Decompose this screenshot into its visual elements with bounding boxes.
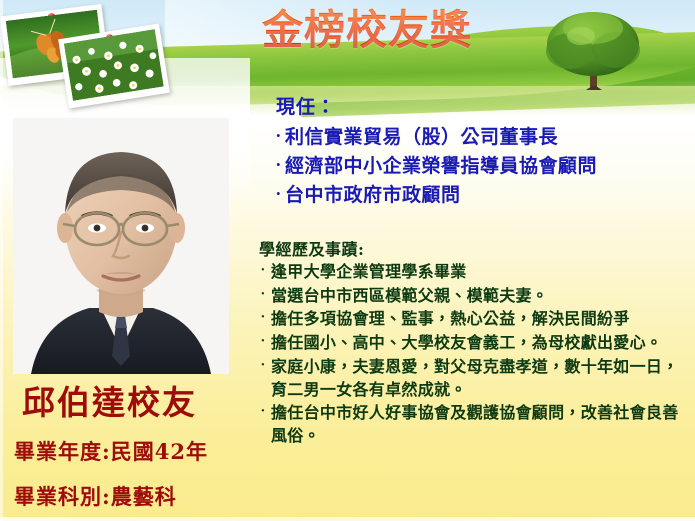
green-tree-illustration <box>536 6 656 94</box>
bullet-icon: · <box>255 308 271 328</box>
current-position-text: 台中市政府市政顧問 <box>285 181 461 210</box>
current-positions-block: 現任： · 利信實業貿易（股）公司董事長 · 經濟部中小企業榮譽指導員協會顧問 … <box>262 92 687 210</box>
current-position-item: · 經濟部中小企業榮譽指導員協會顧問 <box>272 152 687 181</box>
graduation-department-label: 畢業科別:農藝科 <box>14 481 177 511</box>
bullet-icon: · <box>255 402 271 422</box>
deed-item: · 家庭小康，夫妻恩愛，對父母克盡孝道，數十年如一日，育二男一女各有卓然成就。 <box>255 356 691 401</box>
alumnus-name: 邱伯達校友 <box>22 376 197 424</box>
left-edge <box>0 0 3 521</box>
deed-item: · 擔任國小、高中、大學校友會義工，為母校獻出愛心。 <box>255 332 691 355</box>
history-and-deeds-block: 學經歷及事蹟: · 逢甲大學企業管理學系畢業 · 當選台中市西區模範父親、模範夫… <box>255 236 691 449</box>
deed-text: 家庭小康，夫妻恩愛，對父母克盡孝道，數十年如一日，育二男一女各有卓然成就。 <box>271 356 691 401</box>
bottom-edge <box>0 517 695 521</box>
bullet-icon: · <box>255 285 271 305</box>
deed-text: 當選台中市西區模範父親、模範夫妻。 <box>271 285 691 308</box>
current-position-text: 利信實業貿易（股）公司董事長 <box>285 123 558 152</box>
deed-text: 逢甲大學企業管理學系畢業 <box>271 261 691 284</box>
alumnus-portrait-photo <box>13 118 229 374</box>
page-title: 金榜校友獎 <box>232 8 502 54</box>
deed-item: · 擔任多項協會理、監事，熱心公益，解決民間紛爭 <box>255 308 691 331</box>
bullet-icon: · <box>255 261 271 281</box>
deed-text: 擔任多項協會理、監事，熱心公益，解決民間紛爭 <box>271 308 691 331</box>
bullet-icon: · <box>272 152 285 178</box>
current-position-text: 經濟部中小企業榮譽指導員協會顧問 <box>285 152 597 181</box>
bullet-icon: · <box>272 123 285 149</box>
current-position-item: · 利信實業貿易（股）公司董事長 <box>272 123 687 152</box>
current-positions-heading: 現任： <box>276 92 687 119</box>
current-position-item: · 台中市政府市政顧問 <box>272 181 687 210</box>
deed-item: · 擔任台中市好人好事協會及觀護協會顧問，改善社會良善風俗。 <box>255 402 691 447</box>
history-and-deeds-heading: 學經歷及事蹟: <box>259 236 691 260</box>
deed-text: 擔任國小、高中、大學校友會義工，為母校獻出愛心。 <box>271 332 691 355</box>
award-slide: 金榜校友獎 <box>0 0 695 521</box>
deed-item: · 逢甲大學企業管理學系畢業 <box>255 261 691 284</box>
bullet-icon: · <box>255 356 271 376</box>
deed-text: 擔任台中市好人好事協會及觀護協會顧問，改善社會良善風俗。 <box>271 402 691 447</box>
graduation-year-label: 畢業年度:民國42年 <box>14 436 208 466</box>
bullet-icon: · <box>255 332 271 352</box>
bullet-icon: · <box>272 181 285 207</box>
deed-item: · 當選台中市西區模範父親、模範夫妻。 <box>255 285 691 308</box>
